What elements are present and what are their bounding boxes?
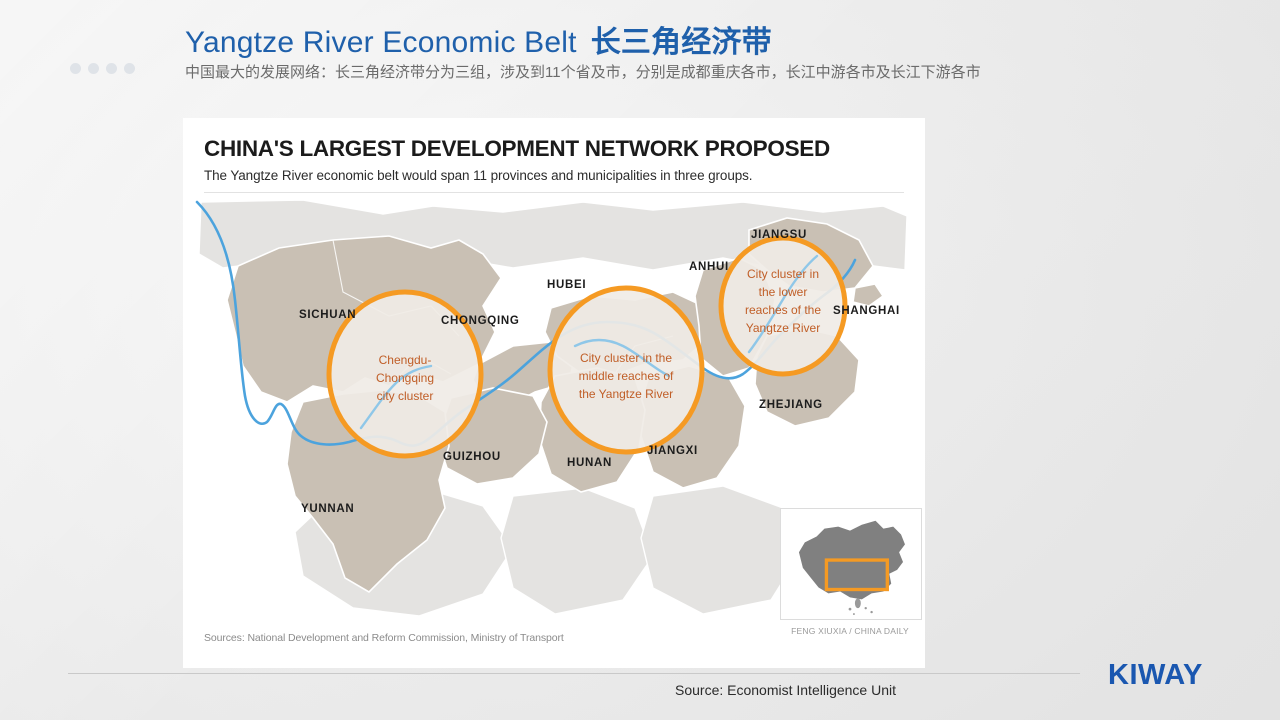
dot-1 [70,63,81,74]
figure-headline: CHINA'S LARGEST DEVELOPMENT NETWORK PROP… [204,136,830,162]
cluster3-line4: Yangtze River [746,321,820,335]
page-title-en: Yangtze River Economic Belt [185,26,577,59]
province-label-hubei: HUBEI [547,279,586,291]
cluster3-line3: reaches of the [745,303,821,317]
province-label-jiangxi: JIANGXI [647,445,698,457]
figure-standfirst: The Yangtze River economic belt would sp… [204,168,752,183]
dot-4 [124,63,135,74]
dot-3 [106,63,117,74]
cluster-label-chengdu-chongqing: Chengdu- Chongqing city cluster [376,353,434,403]
cluster1-line2: Chongqing [376,371,434,385]
province-label-yunnan: YUNNAN [301,503,354,515]
figure-credit: FENG XIUXIA / CHINA DAILY [778,626,922,636]
province-label-zhejiang: ZHEJIANG [759,399,823,411]
cluster2-line3: the Yangtze River [579,387,673,401]
province-label-jiangsu: JIANGSU [751,229,807,241]
footer-divider [68,673,1080,674]
cluster1-line1: Chengdu- [379,353,432,367]
cluster2-line2: middle reaches of [579,369,674,383]
province-label-sichuan: SICHUAN [299,309,356,321]
page-title-cn: 长三角经济带 [591,26,772,59]
province-label-hunan: HUNAN [567,457,612,469]
kiway-logo: KIWAY [1108,659,1203,692]
cluster-label-middle-reaches: City cluster in the middle reaches of th… [579,351,674,401]
page-title: Yangtze River Economic Belt长三角经济带 [185,26,772,60]
inset-locator-map [780,508,922,620]
footer-source: Source: Economist Intelligence Unit [675,682,896,698]
inset-islands [849,598,873,615]
figure-divider [204,192,904,193]
cluster3-line2: the lower [759,285,808,299]
figure-panel: CHINA'S LARGEST DEVELOPMENT NETWORK PROP… [183,118,925,668]
cluster2-line1: City cluster in the [580,351,672,365]
province-label-shanghai: SHANGHAI [833,305,900,317]
cluster3-line1: City cluster in [747,267,819,281]
province-label-chongqing: CHONGQING [441,315,520,327]
cluster1-line3: city cluster [377,389,434,403]
province-label-guizhou: GUIZHOU [443,451,501,463]
figure-sources: Sources: National Development and Reform… [204,632,564,644]
inset-svg [781,509,919,617]
province-label-anhui: ANHUI [689,261,729,273]
province-shanghai [853,284,883,306]
page-subtitle: 中国最大的发展网络：长三角经济带分为三组，涉及到11个省及市，分别是成都重庆各市… [185,62,1085,83]
dot-2 [88,63,99,74]
decorative-dots [70,63,135,74]
